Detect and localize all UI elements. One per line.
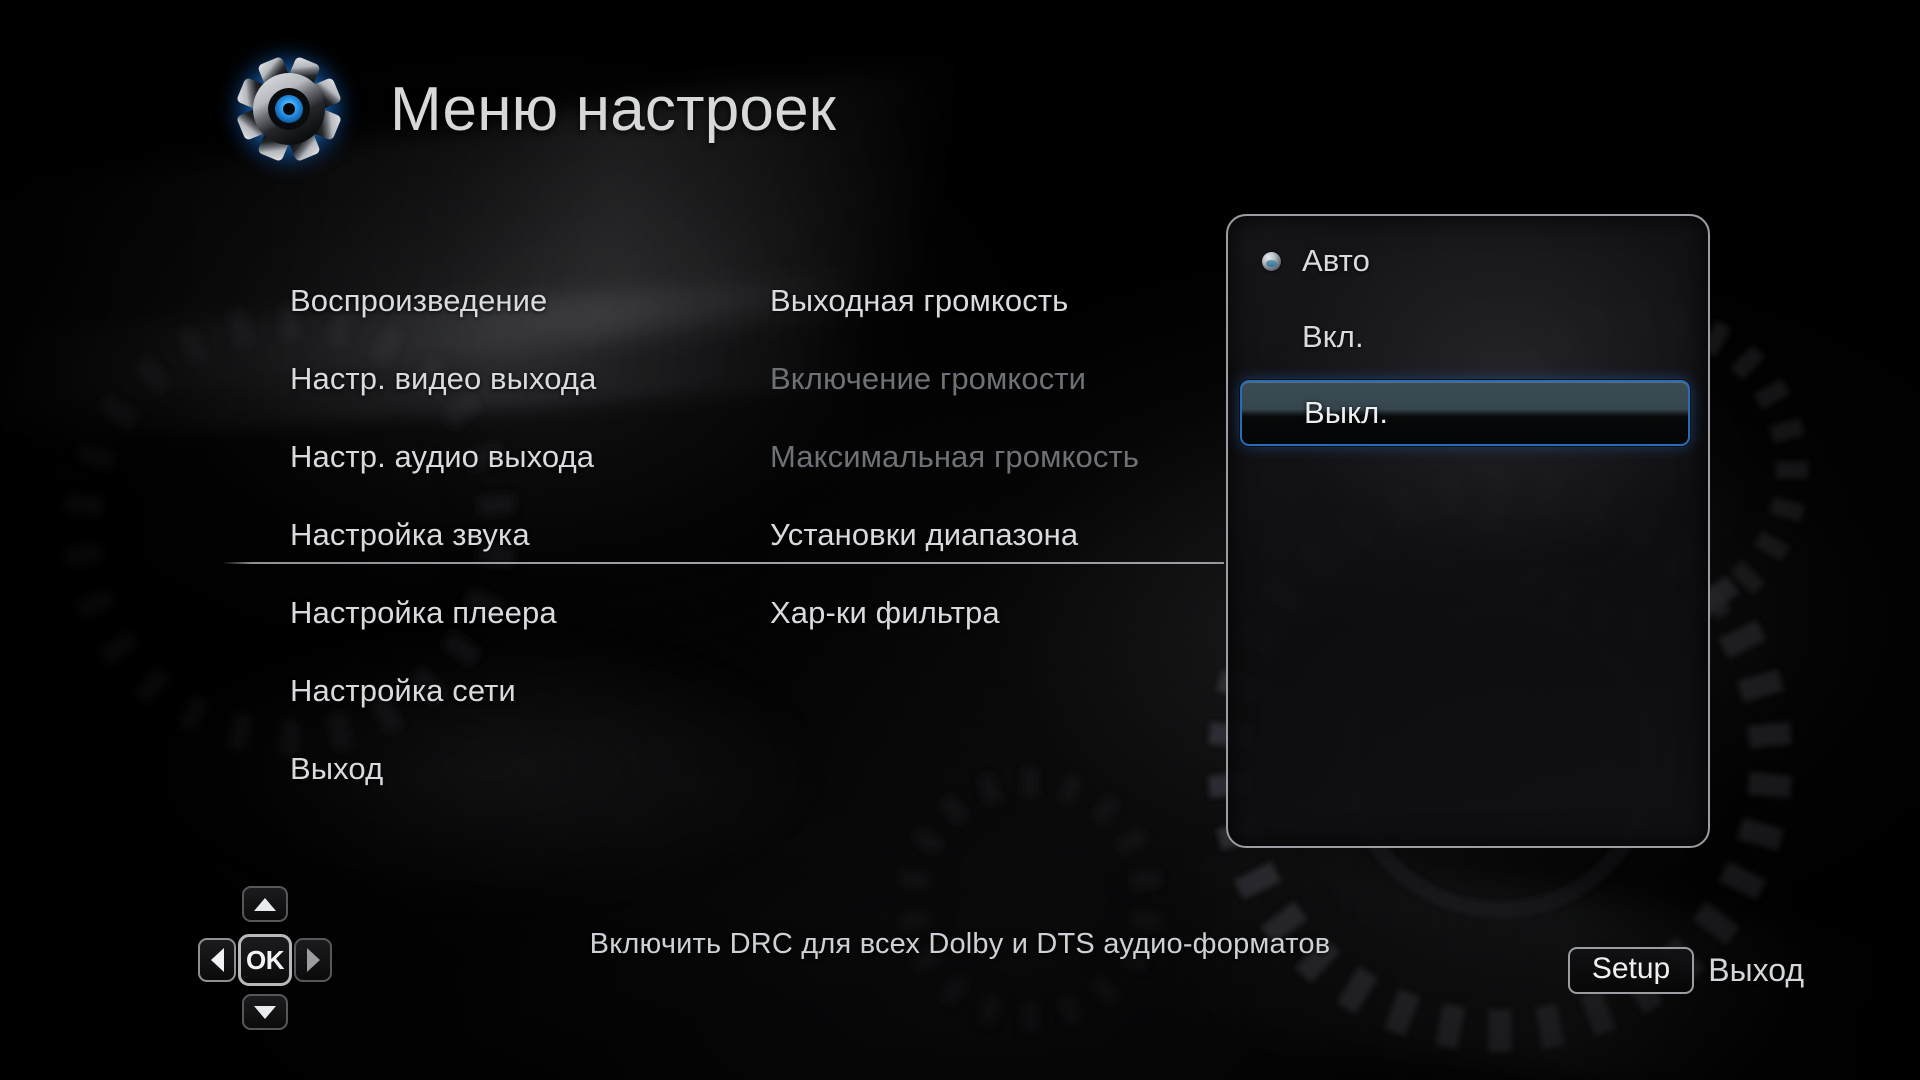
- option-label: Выкл.: [1304, 395, 1388, 431]
- menu-primary-item-label: Настр. видео выхода: [290, 361, 596, 396]
- menu-secondary-item[interactable]: Выходная громкость: [770, 262, 1210, 340]
- primary-menu-column: ВоспроизведениеНастр. видео выходаНастр.…: [290, 262, 720, 808]
- page-title: Меню настроек: [390, 74, 836, 145]
- menu-primary-item[interactable]: Настр. аудио выхода: [290, 418, 720, 496]
- menu-primary-item-label: Настройка сети: [290, 673, 516, 708]
- menu-secondary-item: Включение громкости: [770, 340, 1210, 418]
- gear-icon: [224, 44, 354, 174]
- menu-primary-item[interactable]: Воспроизведение: [290, 262, 720, 340]
- menu-primary-item-label: Настройка плеера: [290, 595, 557, 630]
- menu-secondary-item[interactable]: Хар-ки фильтра: [770, 574, 1210, 652]
- dpad-up-button[interactable]: [242, 886, 288, 922]
- menu-secondary-item-label: Выходная громкость: [770, 283, 1068, 318]
- gear-icon-graphic: [229, 49, 349, 169]
- menu-secondary-item-label: Включение громкости: [770, 361, 1086, 396]
- secondary-menu-column: Выходная громкостьВключение громкостиМак…: [770, 262, 1210, 652]
- exit-hint: Setup Выход: [1568, 947, 1804, 994]
- options-panel: АвтоВкл.Выкл.: [1226, 214, 1710, 848]
- menu-primary-item-label: Настр. аудио выхода: [290, 439, 594, 474]
- radio-selected-icon: [1262, 252, 1281, 271]
- up-arrow-icon: [254, 898, 276, 911]
- menu-secondary-item-label: Максимальная громкость: [770, 439, 1139, 474]
- option-row[interactable]: Вкл.: [1240, 304, 1696, 370]
- menu-secondary-item-label: Хар-ки фильтра: [770, 595, 1000, 630]
- options-list: АвтоВкл.Выкл.: [1228, 228, 1708, 456]
- exit-label: Выход: [1708, 952, 1804, 989]
- menu-primary-item-label: Настройка звука: [290, 517, 530, 552]
- menu-primary-item[interactable]: Выход: [290, 730, 720, 808]
- page-header: Меню настроек: [224, 44, 836, 174]
- option-label: Авто: [1302, 243, 1370, 279]
- menu-primary-item[interactable]: Настройка сети: [290, 652, 720, 730]
- dpad-down-button[interactable]: [242, 994, 288, 1030]
- menu-primary-item-label: Выход: [290, 751, 383, 786]
- down-arrow-icon: [254, 1006, 276, 1019]
- option-label: Вкл.: [1302, 319, 1364, 355]
- setup-key-badge[interactable]: Setup: [1568, 947, 1694, 994]
- option-row[interactable]: Авто: [1240, 228, 1696, 294]
- option-radio-slot: [1240, 252, 1302, 271]
- menu-secondary-item-label: Установки диапазона: [770, 517, 1078, 552]
- settings-screen: Меню настроек ВоспроизведениеНастр. виде…: [0, 0, 1920, 1080]
- menu-secondary-item: Максимальная громкость: [770, 418, 1210, 496]
- menu-primary-item[interactable]: Настройка плеера: [290, 574, 720, 652]
- option-row[interactable]: Выкл.: [1240, 380, 1690, 446]
- menu-primary-item[interactable]: Настр. видео выхода: [290, 340, 720, 418]
- menu-divider: [222, 562, 1224, 564]
- menu-primary-item-label: Воспроизведение: [290, 283, 547, 318]
